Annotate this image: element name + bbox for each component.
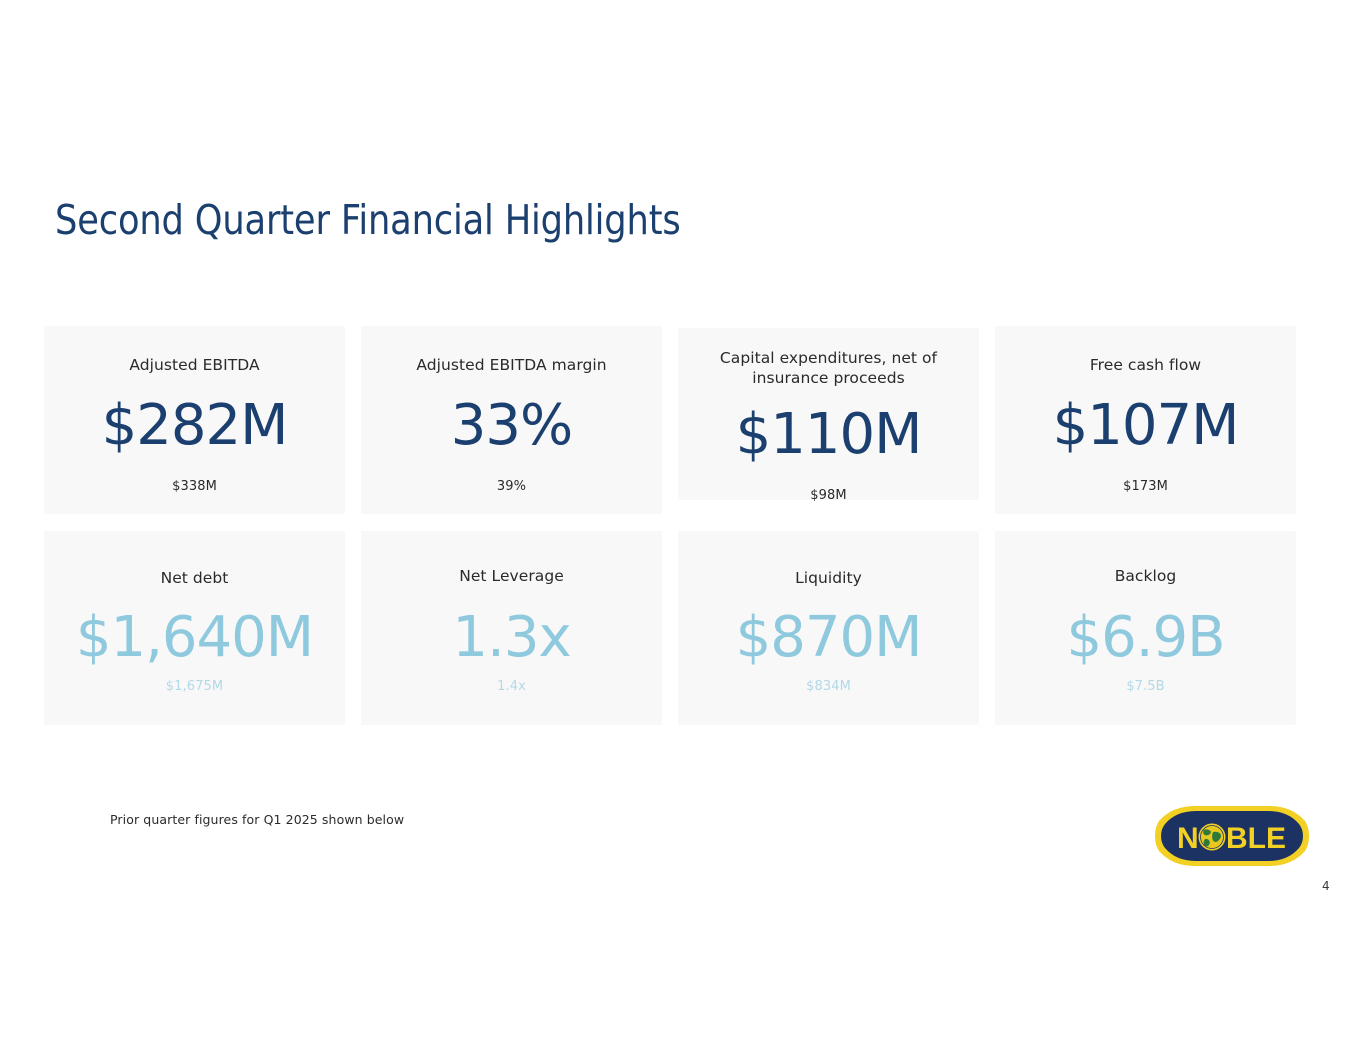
metric-value: $1,640M bbox=[76, 610, 313, 666]
metric-value: $107M bbox=[1053, 398, 1239, 454]
logo-letter-n: N bbox=[1177, 822, 1199, 855]
globe-icon bbox=[1199, 824, 1226, 851]
metrics-grid: Adjusted EBITDA $282M $338M Adjusted EBI… bbox=[44, 326, 1296, 725]
metric-prior-value: $98M bbox=[810, 488, 846, 503]
page-number: 4 bbox=[1322, 879, 1330, 893]
page-title: Second Quarter Financial Highlights bbox=[55, 196, 681, 244]
logo-letters-ble: BLE bbox=[1226, 822, 1286, 855]
metric-label: Adjusted EBITDA bbox=[129, 356, 259, 376]
metric-prior-value: $173M bbox=[1123, 479, 1168, 494]
metric-label: Net debt bbox=[161, 569, 229, 589]
metric-label: Free cash flow bbox=[1090, 356, 1201, 376]
metric-card-backlog[interactable]: Backlog $6.9B $7.5B bbox=[995, 531, 1296, 725]
metric-label: Adjusted EBITDA margin bbox=[416, 356, 606, 376]
metric-label: Backlog bbox=[1115, 567, 1177, 587]
metric-prior-value: $338M bbox=[172, 479, 217, 494]
metric-label: Liquidity bbox=[795, 569, 862, 589]
metric-card-free-cash-flow[interactable]: Free cash flow $107M $173M bbox=[995, 326, 1296, 514]
metric-value: $282M bbox=[102, 398, 288, 454]
metric-prior-value: $7.5B bbox=[1126, 679, 1164, 694]
metric-prior-value: 39% bbox=[497, 479, 526, 494]
metric-value: $110M bbox=[736, 407, 922, 463]
metric-card-adjusted-ebitda-margin[interactable]: Adjusted EBITDA margin 33% 39% bbox=[361, 326, 662, 514]
metric-value: 33% bbox=[451, 398, 572, 454]
metric-card-adjusted-ebitda[interactable]: Adjusted EBITDA $282M $338M bbox=[44, 326, 345, 514]
metric-value: $870M bbox=[736, 610, 922, 666]
metric-prior-value: $1,675M bbox=[166, 679, 223, 694]
slide-canvas: Second Quarter Financial Highlights Adju… bbox=[0, 0, 1365, 1055]
metric-card-capital-expenditures[interactable]: Capital expenditures, net of insurance p… bbox=[678, 328, 979, 500]
metric-card-net-leverage[interactable]: Net Leverage 1.3x 1.4x bbox=[361, 531, 662, 725]
metric-card-net-debt[interactable]: Net debt $1,640M $1,675M bbox=[44, 531, 345, 725]
metrics-row-2: Net debt $1,640M $1,675M Net Leverage 1.… bbox=[44, 531, 1296, 725]
metric-label: Capital expenditures, net of insurance p… bbox=[688, 349, 969, 389]
metric-card-liquidity[interactable]: Liquidity $870M $834M bbox=[678, 531, 979, 725]
metric-value: $6.9B bbox=[1066, 610, 1224, 666]
metric-prior-value: $834M bbox=[806, 679, 851, 694]
metric-value: 1.3x bbox=[452, 610, 570, 666]
metric-prior-value: 1.4x bbox=[497, 679, 526, 694]
metrics-row-1: Adjusted EBITDA $282M $338M Adjusted EBI… bbox=[44, 326, 1296, 514]
footnote: Prior quarter figures for Q1 2025 shown … bbox=[110, 812, 404, 827]
metric-label: Net Leverage bbox=[459, 567, 564, 587]
noble-logo: N BLE bbox=[1155, 805, 1309, 867]
